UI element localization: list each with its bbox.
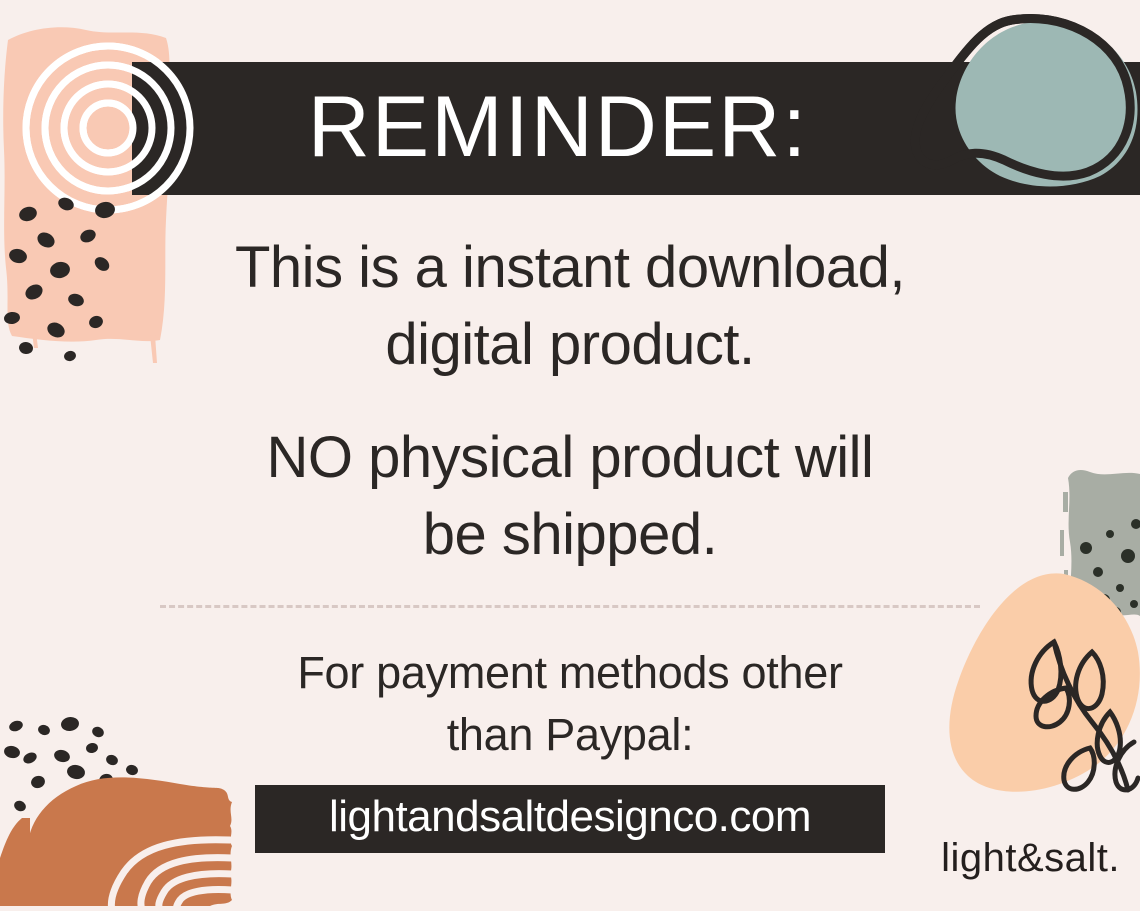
dashed-divider <box>160 605 980 608</box>
website-url-bar[interactable]: lightandsaltdesignco.com <box>255 785 885 853</box>
brand-logo: light&salt. <box>905 838 1120 878</box>
card-content: This is a instant download, digital prod… <box>0 0 1140 911</box>
website-url-text[interactable]: lightandsaltdesignco.com <box>329 795 811 839</box>
paragraph-3-line-2: than Paypal: <box>160 704 980 766</box>
reminder-graphic-card: REMINDER: <box>0 0 1140 911</box>
paragraph-2-line-1: NO physical product will <box>160 420 980 497</box>
instant-download-paragraph: This is a instant download, digital prod… <box>160 230 980 383</box>
no-physical-product-paragraph: NO physical product will be shipped. <box>160 420 980 573</box>
paragraph-1-line-2: digital product. <box>160 307 980 384</box>
paragraph-1-line-1: This is a instant download, <box>160 230 980 307</box>
paragraph-2-line-2: be shipped. <box>160 497 980 574</box>
payment-methods-paragraph: For payment methods other than Paypal: <box>160 642 980 766</box>
paragraph-3-line-1: For payment methods other <box>160 642 980 704</box>
